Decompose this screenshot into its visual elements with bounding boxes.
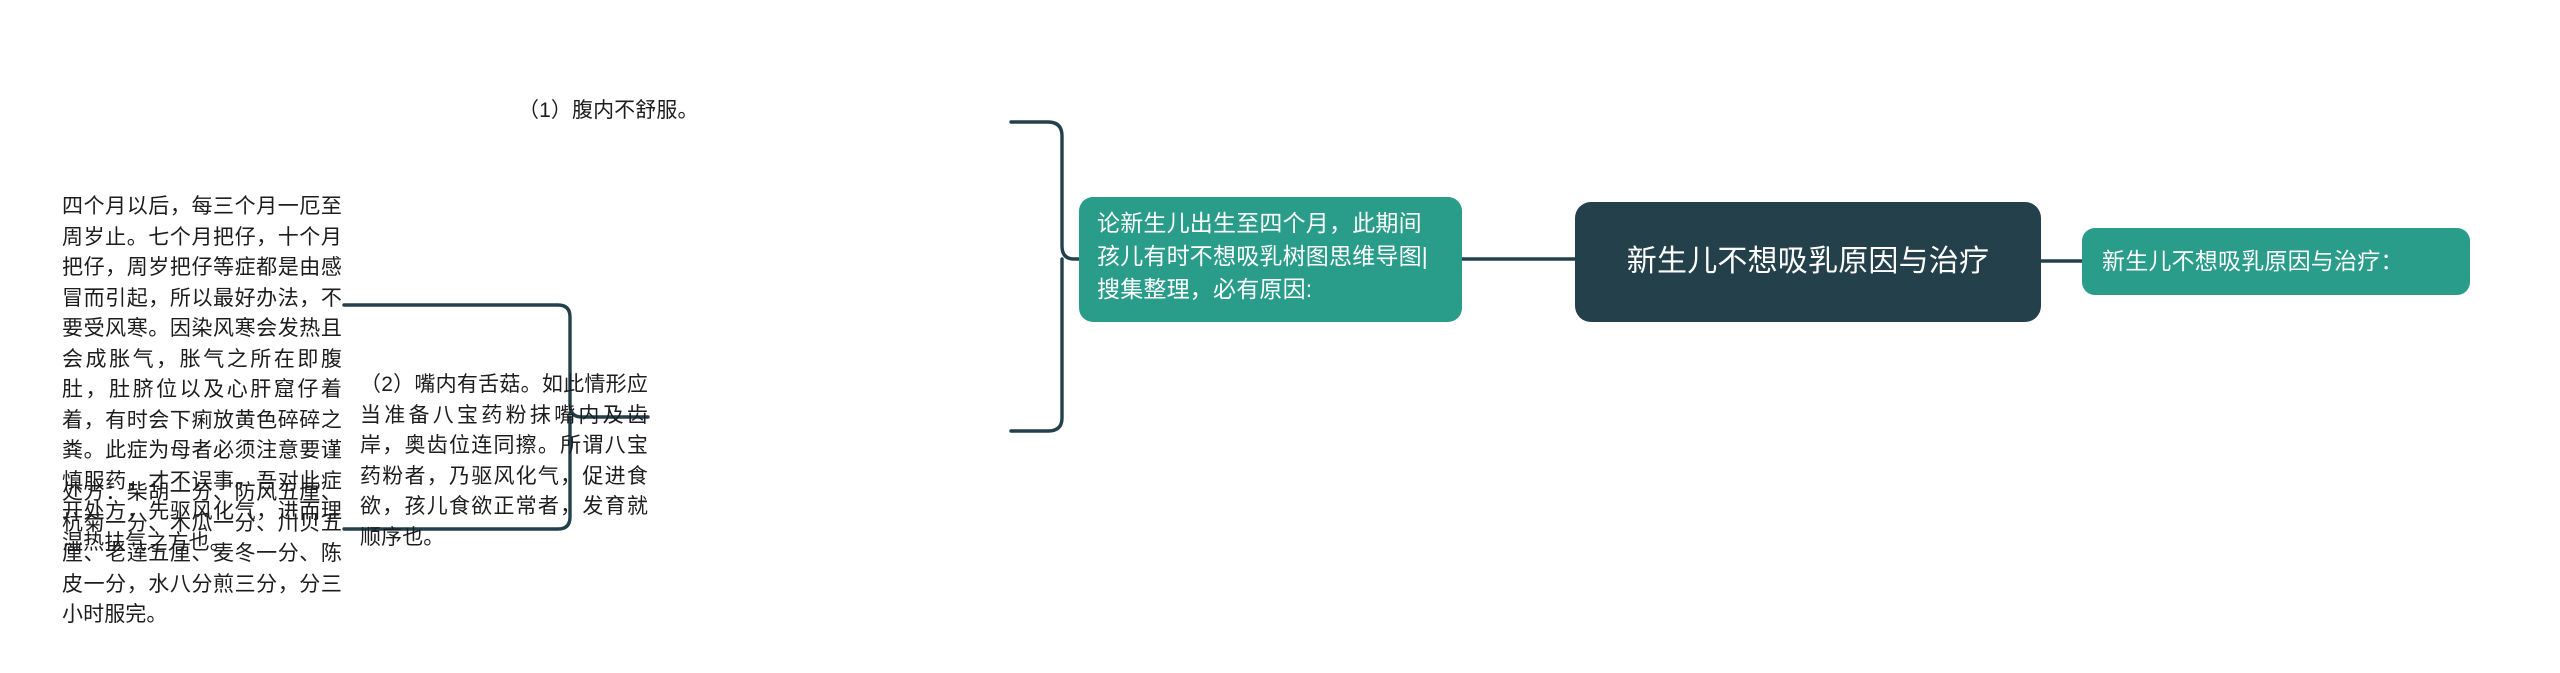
root-node[interactable]: 新生儿不想吸乳原因与治疗	[1575, 202, 2041, 322]
leaf-symptom-1[interactable]: （1）腹内不舒服。	[518, 96, 838, 127]
branch-node-right[interactable]: 新生儿不想吸乳原因与治疗：	[2082, 228, 2470, 295]
branch-node-left[interactable]: 论新生儿出生至四个月，此期间孩儿有时不想吸乳树图思维导图|搜集整理，必有原因:	[1079, 197, 1462, 322]
mindmap-canvas: （1）腹内不舒服。 （2）嘴内有舌菇。如此情形应当准备八宝药粉抹嘴内及齿岸，奥齿…	[0, 0, 2560, 673]
connector-symptoms-to-left-branch	[1011, 122, 1079, 431]
leaf-symptom-2[interactable]: （2）嘴内有舌菇。如此情形应当准备八宝药粉抹嘴内及齿岸，奥齿位连同擦。所谓八宝药…	[360, 370, 648, 553]
connector-lines	[0, 0, 2560, 673]
leaf-prescription[interactable]: 处方：柴胡一分、防风五厘、杭菊一分、木瓜一分、川贝五厘、老莲五厘、麦冬一分、陈皮…	[62, 478, 342, 631]
